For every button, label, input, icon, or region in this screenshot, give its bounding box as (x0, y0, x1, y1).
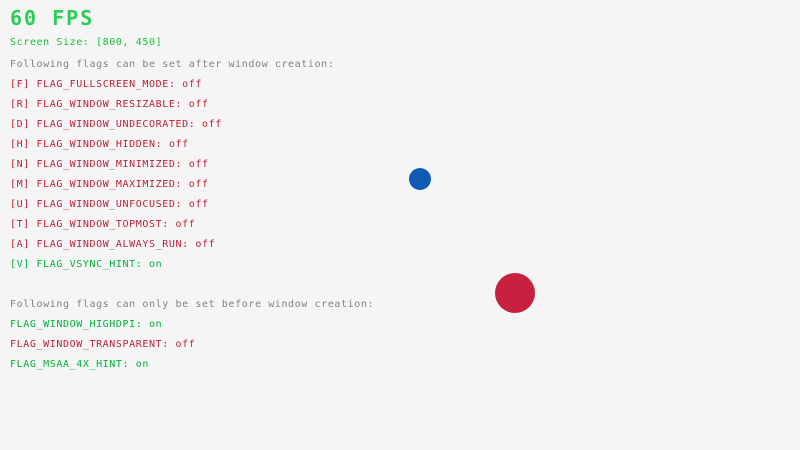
flag-state: off (176, 219, 196, 230)
flag-row[interactable]: [U] FLAG_WINDOW_UNFOCUSED: off (10, 200, 209, 210)
flag-key: [H] (10, 139, 36, 150)
flag-name: FLAG_WINDOW_MAXIMIZED: (36, 179, 188, 190)
flag-row[interactable]: [F] FLAG_FULLSCREEN_MODE: off (10, 80, 202, 90)
flag-key: [T] (10, 219, 36, 230)
flag-name: FLAG_WINDOW_HIGHDPI: (10, 319, 149, 330)
flag-state: off (176, 339, 196, 350)
flag-state: on (149, 259, 162, 270)
flag-key: [F] (10, 79, 36, 90)
section-header-after-creation: Following flags can be set after window … (10, 60, 334, 70)
flag-name: FLAG_WINDOW_TRANSPARENT: (10, 339, 176, 350)
flag-name: FLAG_WINDOW_UNDECORATED: (36, 119, 202, 130)
flag-row[interactable]: [H] FLAG_WINDOW_HIDDEN: off (10, 140, 189, 150)
flag-state: off (195, 239, 215, 250)
flag-name: FLAG_WINDOW_UNFOCUSED: (36, 199, 188, 210)
flag-state: off (169, 139, 189, 150)
flag-row[interactable]: [R] FLAG_WINDOW_RESIZABLE: off (10, 100, 209, 110)
flag-name: FLAG_WINDOW_TOPMOST: (36, 219, 175, 230)
flag-name: FLAG_MSAA_4X_HINT: (10, 359, 136, 370)
flag-state: off (189, 99, 209, 110)
flag-state: on (149, 319, 162, 330)
flag-name: FLAG_VSYNC_HINT: (36, 259, 149, 270)
flag-row[interactable]: [A] FLAG_WINDOW_ALWAYS_RUN: off (10, 240, 215, 250)
flag-name: FLAG_FULLSCREEN_MODE: (36, 79, 182, 90)
flag-row[interactable]: FLAG_WINDOW_HIGHDPI: on (10, 320, 162, 330)
flag-state: off (189, 179, 209, 190)
screen-size-label: Screen Size: [800, 450] (10, 38, 162, 48)
flag-name: FLAG_WINDOW_MINIMIZED: (36, 159, 188, 170)
flag-state: off (202, 119, 222, 130)
flag-key: [R] (10, 99, 36, 110)
flag-row[interactable]: [D] FLAG_WINDOW_UNDECORATED: off (10, 120, 222, 130)
flag-row[interactable]: [M] FLAG_WINDOW_MAXIMIZED: off (10, 180, 209, 190)
flag-row[interactable]: FLAG_WINDOW_TRANSPARENT: off (10, 340, 195, 350)
flag-state: off (189, 159, 209, 170)
flag-key: [U] (10, 199, 36, 210)
flag-name: FLAG_WINDOW_HIDDEN: (36, 139, 168, 150)
flag-state: off (189, 199, 209, 210)
fps-counter: 60 FPS (10, 8, 94, 28)
section-header-before-creation: Following flags can only be set before w… (10, 300, 374, 310)
flag-name: FLAG_WINDOW_ALWAYS_RUN: (36, 239, 195, 250)
flag-row[interactable]: [T] FLAG_WINDOW_TOPMOST: off (10, 220, 195, 230)
red-ball (495, 273, 535, 313)
flag-key: [N] (10, 159, 36, 170)
flag-row[interactable]: FLAG_MSAA_4X_HINT: on (10, 360, 149, 370)
flag-row[interactable]: [V] FLAG_VSYNC_HINT: on (10, 260, 162, 270)
raylib-window-flags-demo: 60 FPS Screen Size: [800, 450] Following… (0, 0, 800, 450)
flag-state: on (136, 359, 149, 370)
flag-key: [M] (10, 179, 36, 190)
flag-row[interactable]: [N] FLAG_WINDOW_MINIMIZED: off (10, 160, 209, 170)
flag-name: FLAG_WINDOW_RESIZABLE: (36, 99, 188, 110)
flag-state: off (182, 79, 202, 90)
flag-key: [V] (10, 259, 36, 270)
flag-key: [A] (10, 239, 36, 250)
flag-key: [D] (10, 119, 36, 130)
blue-ball (409, 168, 431, 190)
